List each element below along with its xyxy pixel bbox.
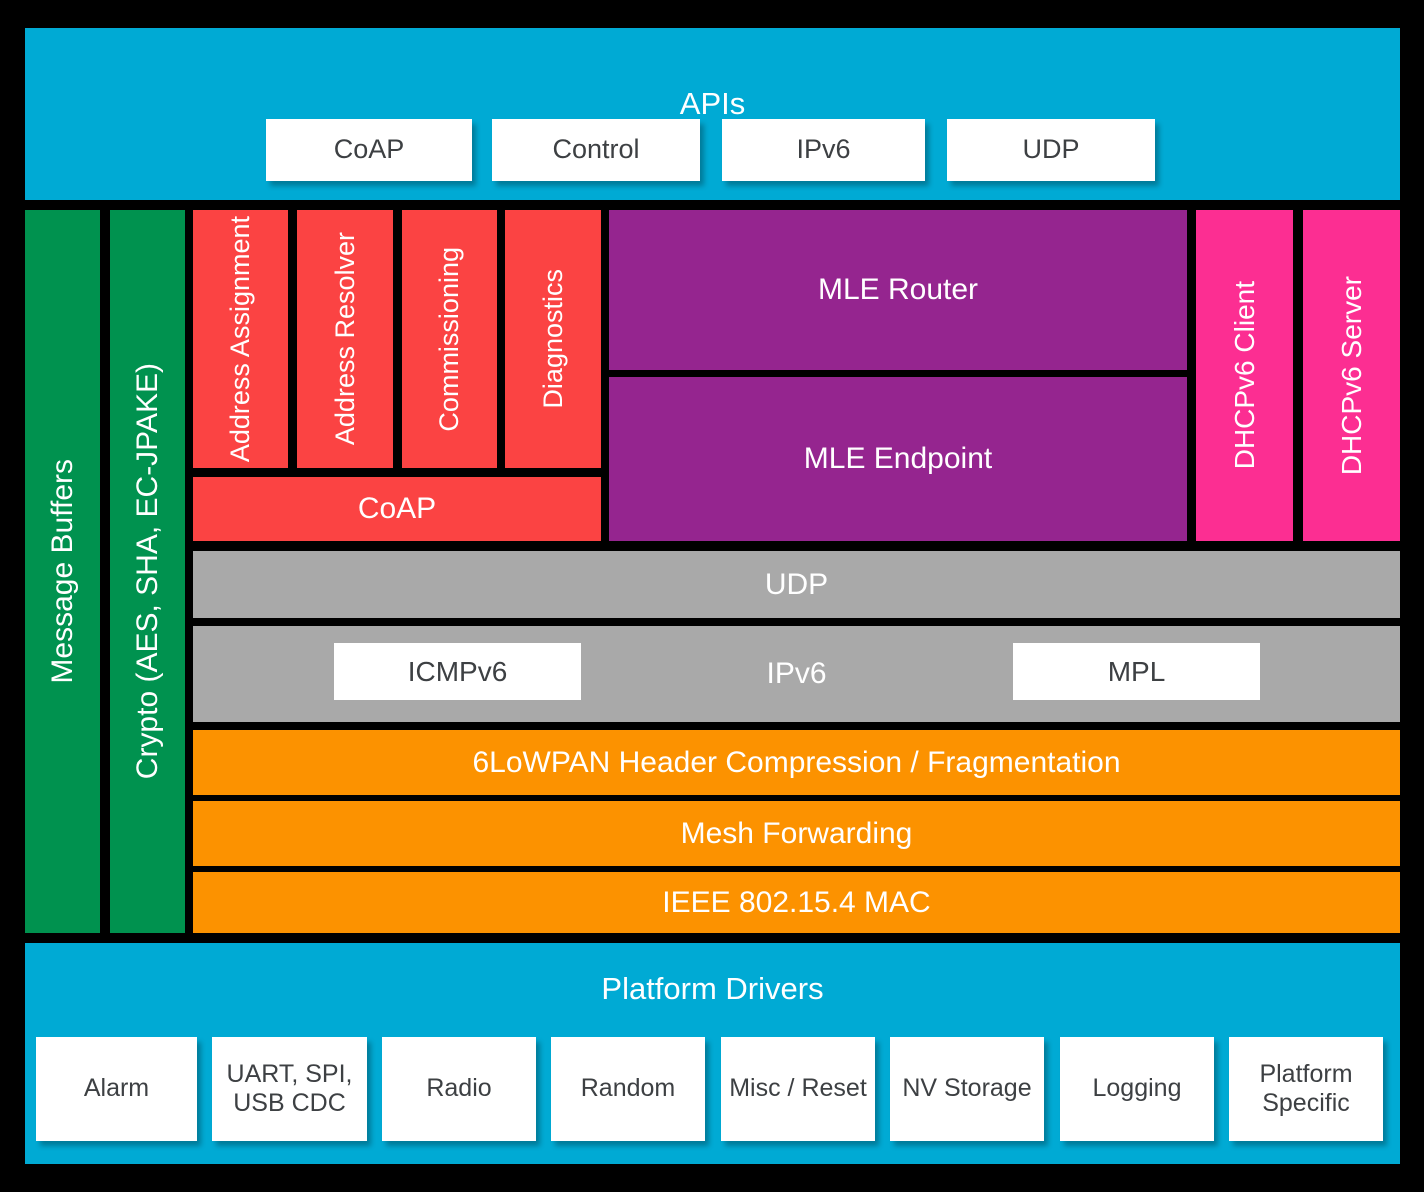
udp-layer: UDP <box>193 551 1400 618</box>
column-crypto-label: Crypto (AES, SHA, EC-JPAKE) <box>131 363 165 779</box>
service-diagnostics: Diagnostics <box>505 210 601 468</box>
api-layer-title: APIs <box>25 86 1400 122</box>
dhcpv6-server: DHCPv6 Server <box>1303 210 1400 541</box>
platform-chip-uart-spi-usb-cdc-label: UART, SPI, USB CDC <box>212 1060 367 1119</box>
api-chip-ipv6[interactable]: IPv6 <box>722 119 925 181</box>
platform-chip-nv-storage[interactable]: NV Storage <box>890 1037 1044 1141</box>
ip-chip-mpl-label: MPL <box>1108 656 1166 688</box>
layer-ieee-802154-mac-label: IEEE 802.15.4 MAC <box>662 886 930 920</box>
platform-chip-alarm-label: Alarm <box>84 1074 149 1104</box>
platform-chip-random-label: Random <box>581 1074 676 1104</box>
platform-chip-platform-specific[interactable]: Platform Specific <box>1229 1037 1383 1141</box>
layer-6lowpan-label: 6LoWPAN Header Compression / Fragmentati… <box>472 746 1120 780</box>
ip-layer-label: IPv6 <box>766 657 826 691</box>
api-chip-udp-label: UDP <box>1022 134 1079 166</box>
column-message-buffers-label: Message Buffers <box>46 459 80 684</box>
dhcpv6-client: DHCPv6 Client <box>1196 210 1293 541</box>
api-layer-band: APIs <box>25 28 1400 200</box>
mle-router-label: MLE Router <box>818 273 978 307</box>
layer-ieee-802154-mac: IEEE 802.15.4 MAC <box>193 872 1400 933</box>
platform-chip-radio-label: Radio <box>426 1074 491 1104</box>
api-chip-coap-label: CoAP <box>334 134 405 166</box>
mle-endpoint-label: MLE Endpoint <box>804 442 992 476</box>
mle-router: MLE Router <box>609 210 1187 370</box>
platform-chip-nv-storage-label: NV Storage <box>902 1074 1031 1104</box>
layer-mesh-forwarding-label: Mesh Forwarding <box>681 817 913 851</box>
platform-chip-random[interactable]: Random <box>551 1037 705 1141</box>
service-commissioning: Commissioning <box>402 210 497 468</box>
service-address-assignment-label: Address Assignment <box>225 216 255 462</box>
service-address-resolver: Address Resolver <box>297 210 393 468</box>
platform-chip-logging[interactable]: Logging <box>1060 1037 1214 1141</box>
platform-chip-misc-reset-label: Misc / Reset <box>729 1074 867 1104</box>
ip-chip-icmpv6[interactable]: ICMPv6 <box>334 643 581 700</box>
layer-6lowpan: 6LoWPAN Header Compression / Fragmentati… <box>193 730 1400 795</box>
ip-chip-icmpv6-label: ICMPv6 <box>408 656 508 688</box>
api-chip-coap[interactable]: CoAP <box>266 119 472 181</box>
service-coap-bar: CoAP <box>193 477 601 541</box>
platform-chip-uart-spi-usb-cdc[interactable]: UART, SPI, USB CDC <box>212 1037 367 1141</box>
column-crypto: Crypto (AES, SHA, EC-JPAKE) <box>110 210 185 933</box>
service-commissioning-label: Commissioning <box>434 247 464 432</box>
platform-chip-platform-specific-label: Platform Specific <box>1229 1060 1383 1119</box>
platform-chip-radio[interactable]: Radio <box>382 1037 536 1141</box>
api-chip-control[interactable]: Control <box>492 119 700 181</box>
platform-chip-alarm[interactable]: Alarm <box>36 1037 197 1141</box>
layer-mesh-forwarding: Mesh Forwarding <box>193 801 1400 866</box>
dhcpv6-server-label: DHCPv6 Server <box>1336 276 1367 475</box>
service-coap-bar-label: CoAP <box>358 492 436 526</box>
stack-architecture-diagram: APIs CoAP Control IPv6 UDP Message Buffe… <box>0 0 1424 1192</box>
platform-chip-logging-label: Logging <box>1093 1074 1182 1104</box>
api-chip-control-label: Control <box>552 134 639 166</box>
udp-layer-label: UDP <box>765 568 828 602</box>
service-address-assignment: Address Assignment <box>193 210 288 468</box>
api-chip-udp[interactable]: UDP <box>947 119 1155 181</box>
column-message-buffers: Message Buffers <box>25 210 100 933</box>
ip-chip-mpl[interactable]: MPL <box>1013 643 1260 700</box>
mle-endpoint: MLE Endpoint <box>609 377 1187 541</box>
api-chip-ipv6-label: IPv6 <box>796 134 850 166</box>
platform-drivers-title: Platform Drivers <box>25 971 1400 1007</box>
platform-chip-misc-reset[interactable]: Misc / Reset <box>721 1037 875 1141</box>
service-address-resolver-label: Address Resolver <box>330 232 360 445</box>
service-diagnostics-label: Diagnostics <box>538 269 568 409</box>
dhcpv6-client-label: DHCPv6 Client <box>1229 281 1260 469</box>
